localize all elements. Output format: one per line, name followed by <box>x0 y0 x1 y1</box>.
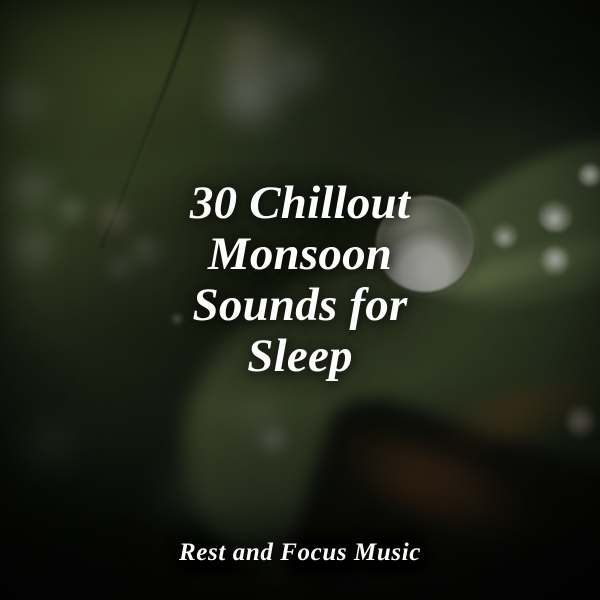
album-title: 30 Chillout Monsoon Sounds for Sleep <box>0 178 600 382</box>
cover-text-layer: 30 Chillout Monsoon Sounds for Sleep Res… <box>0 0 600 600</box>
album-artist: Rest and Focus Music <box>0 538 600 568</box>
album-cover: 30 Chillout Monsoon Sounds for Sleep Res… <box>0 0 600 600</box>
